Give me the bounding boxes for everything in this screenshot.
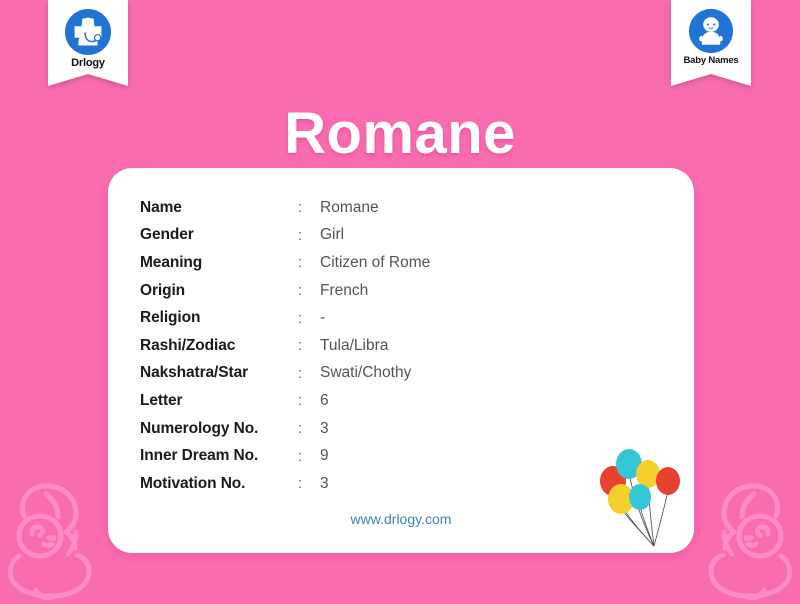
baby-names-badge-label: Baby Names <box>677 56 745 66</box>
name-details-card: Name : Romane Gender : Girl Meaning : Ci… <box>108 168 694 553</box>
table-row: Religion : - <box>140 304 430 332</box>
row-value: 3 <box>320 415 430 443</box>
row-separator: : <box>298 387 320 415</box>
row-value: Girl <box>320 222 430 250</box>
row-separator: : <box>298 415 320 443</box>
page-title: Romane <box>0 105 800 163</box>
mother-and-baby-icon-right <box>688 472 800 604</box>
row-separator: : <box>298 360 320 388</box>
drlogy-brand-badge[interactable]: Drlogy <box>48 0 128 86</box>
table-body: Name : Romane Gender : Girl Meaning : Ci… <box>140 194 430 498</box>
baby-names-brand-badge[interactable]: Baby Names <box>671 0 751 86</box>
table-row: Rashi/Zodiac : Tula/Libra <box>140 332 430 360</box>
row-separator: : <box>298 470 320 498</box>
row-label: Nakshatra/Star <box>140 360 298 388</box>
row-value: 9 <box>320 442 430 470</box>
name-details-table: Name : Romane Gender : Girl Meaning : Ci… <box>140 194 430 498</box>
table-row: Letter : 6 <box>140 387 430 415</box>
row-label: Letter <box>140 387 298 415</box>
row-separator: : <box>298 194 320 222</box>
row-value: Citizen of Rome <box>320 249 430 277</box>
row-label: Religion <box>140 304 298 332</box>
row-value: Swati/Chothy <box>320 360 430 388</box>
row-value: French <box>320 277 430 305</box>
row-separator: : <box>298 249 320 277</box>
row-label: Rashi/Zodiac <box>140 332 298 360</box>
row-value: 3 <box>320 470 430 498</box>
table-row: Origin : French <box>140 277 430 305</box>
table-row: Meaning : Citizen of Rome <box>140 249 430 277</box>
row-separator: : <box>298 304 320 332</box>
row-label: Inner Dream No. <box>140 442 298 470</box>
row-label: Numerology No. <box>140 415 298 443</box>
table-row: Motivation No. : 3 <box>140 470 430 498</box>
mother-and-baby-icon-left <box>0 472 112 604</box>
row-label: Name <box>140 194 298 222</box>
row-separator: : <box>298 332 320 360</box>
table-row: Name : Romane <box>140 194 430 222</box>
table-row: Nakshatra/Star : Swati/Chothy <box>140 360 430 388</box>
row-label: Meaning <box>140 249 298 277</box>
row-value: 6 <box>320 387 430 415</box>
row-label: Origin <box>140 277 298 305</box>
balloon-bunch-icon <box>596 447 688 551</box>
row-value: Romane <box>320 194 430 222</box>
drlogy-badge-label: Drlogy <box>54 58 122 69</box>
row-value: - <box>320 304 430 332</box>
drlogy-doctor-logo-icon <box>64 8 112 56</box>
baby-logo-icon <box>688 8 734 54</box>
website-link[interactable]: www.drlogy.com <box>108 511 694 527</box>
row-separator: : <box>298 222 320 250</box>
row-value: Tula/Libra <box>320 332 430 360</box>
row-separator: : <box>298 442 320 470</box>
row-separator: : <box>298 277 320 305</box>
table-row: Gender : Girl <box>140 222 430 250</box>
table-row: Numerology No. : 3 <box>140 415 430 443</box>
row-label: Motivation No. <box>140 470 298 498</box>
table-row: Inner Dream No. : 9 <box>140 442 430 470</box>
row-label: Gender <box>140 222 298 250</box>
